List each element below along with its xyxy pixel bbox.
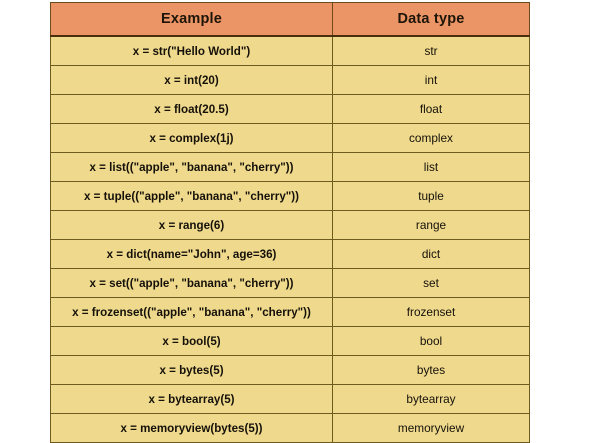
cell-example: x = bytes(5) [51,356,333,385]
table-row: x = tuple(("apple", "banana", "cherry"))… [51,182,530,211]
cell-datatype: frozenset [333,298,530,327]
cell-datatype: bytes [333,356,530,385]
table-row: x = bytearray(5)bytearray [51,385,530,414]
table-row: x = frozenset(("apple", "banana", "cherr… [51,298,530,327]
cell-datatype: complex [333,124,530,153]
cell-datatype: memoryview [333,414,530,443]
cell-datatype: float [333,95,530,124]
cell-datatype: dict [333,240,530,269]
cell-example: x = list(("apple", "banana", "cherry")) [51,153,333,182]
cell-datatype: int [333,66,530,95]
cell-example: x = str("Hello World") [51,36,333,66]
table-container: Example Data type x = str("Hello World")… [50,2,529,443]
cell-datatype: tuple [333,182,530,211]
cell-datatype: bytearray [333,385,530,414]
table-row: x = int(20)int [51,66,530,95]
cell-example: x = bool(5) [51,327,333,356]
column-header-datatype: Data type [333,3,530,37]
python-data-types-table: Example Data type x = str("Hello World")… [50,2,530,443]
cell-example: x = bytearray(5) [51,385,333,414]
table-header-row: Example Data type [51,3,530,37]
table-row: x = bool(5)bool [51,327,530,356]
cell-example: x = int(20) [51,66,333,95]
table-row: x = set(("apple", "banana", "cherry"))se… [51,269,530,298]
cell-example: x = float(20.5) [51,95,333,124]
cell-datatype: list [333,153,530,182]
cell-example: x = dict(name="John", age=36) [51,240,333,269]
table-row: x = str("Hello World")str [51,36,530,66]
cell-example: x = complex(1j) [51,124,333,153]
table-body: x = str("Hello World")strx = int(20)intx… [51,36,530,443]
cell-datatype: str [333,36,530,66]
table-row: x = list(("apple", "banana", "cherry"))l… [51,153,530,182]
cell-datatype: bool [333,327,530,356]
cell-example: x = memoryview(bytes(5)) [51,414,333,443]
table-row: x = float(20.5)float [51,95,530,124]
table-row: x = range(6)range [51,211,530,240]
cell-example: x = set(("apple", "banana", "cherry")) [51,269,333,298]
cell-example: x = range(6) [51,211,333,240]
table-row: x = dict(name="John", age=36)dict [51,240,530,269]
table-header: Example Data type [51,3,530,37]
page-root: Example Data type x = str("Hello World")… [0,0,600,424]
cell-example: x = frozenset(("apple", "banana", "cherr… [51,298,333,327]
column-header-example: Example [51,3,333,37]
cell-example: x = tuple(("apple", "banana", "cherry")) [51,182,333,211]
cell-datatype: set [333,269,530,298]
table-row: x = bytes(5)bytes [51,356,530,385]
table-row: x = memoryview(bytes(5))memoryview [51,414,530,443]
cell-datatype: range [333,211,530,240]
table-row: x = complex(1j)complex [51,124,530,153]
